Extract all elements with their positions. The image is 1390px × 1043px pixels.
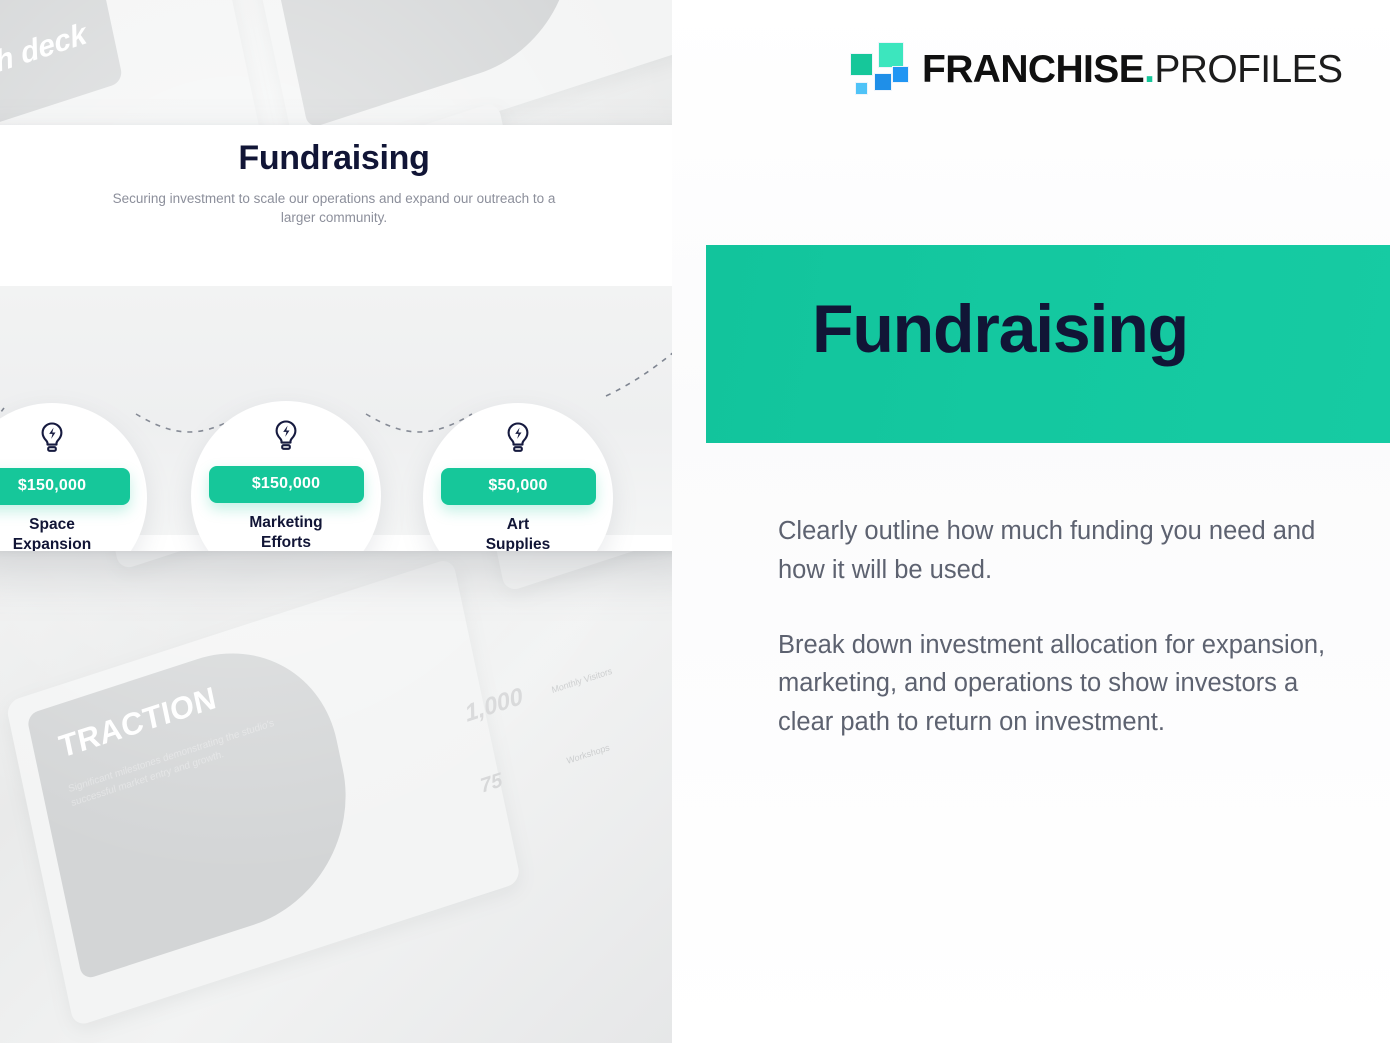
logo-square-cyan (855, 82, 868, 95)
funding-node-caption-line-1: Art (507, 516, 529, 533)
brand-wordmark: FRANCHISE.PROFILES (922, 50, 1342, 89)
funding-node-space-expansion[interactable]: $150,000 Space Expansion (0, 403, 147, 551)
funding-node-marketing-efforts[interactable]: $150,000 Marketing Efforts (191, 401, 381, 551)
brand-word-dot: . (1144, 48, 1154, 91)
slide-preview-title: Fundraising (0, 139, 710, 178)
slide-preview-card[interactable]: Fundraising Securing investment to scale… (0, 125, 710, 551)
funding-node-caption-line-1: Space (29, 516, 75, 533)
section-title: Fundraising (812, 295, 1188, 363)
mini-metric-value-1: 1,000 (463, 683, 526, 729)
mini-metric-label-1: Monthly Visitors (551, 648, 667, 696)
slide-showcase-page: MARKET spaces in urban and are substanti… (0, 0, 1390, 1043)
mini-metric-label-2: Workshops (566, 716, 672, 767)
funding-node-caption-line-2: Efforts (261, 534, 311, 551)
funding-amount-badge: $150,000 (0, 468, 130, 505)
logo-square-blue (892, 66, 909, 83)
funding-node-caption-line-2: Expansion (13, 536, 91, 551)
funding-node-caption: Space Expansion (0, 515, 147, 551)
logo-square-blue-dark (874, 73, 892, 91)
info-panel: FRANCHISE.PROFILES Fundraising Clearly o… (672, 0, 1390, 1043)
brand-word-light: PROFILES (1154, 48, 1342, 91)
lightbulb-icon (37, 421, 67, 455)
lightbulb-icon (271, 419, 301, 453)
mini-problem-hero-block (254, 0, 594, 129)
mini-metric-value-2: 75 (478, 769, 504, 798)
lightbulb-icon (503, 421, 533, 455)
logo-square-teal (850, 53, 873, 76)
slide-preview-subtitle: Securing investment to scale our operati… (99, 190, 569, 227)
funding-node-caption-line-2: Supplies (486, 536, 551, 551)
mini-slide-traction: TRACTION Significant milestones demonstr… (5, 557, 521, 1027)
guidance-copy: Clearly outline how much funding you nee… (778, 512, 1358, 742)
funding-node-caption: Marketing Efforts (191, 513, 381, 551)
funding-node-caption-line-1: Marketing (249, 514, 322, 531)
funding-node-art-supplies[interactable]: $50,000 Art Supplies (423, 403, 613, 551)
funding-amount-badge: $50,000 (441, 468, 596, 505)
logo-square-mint (878, 42, 904, 68)
mini-slide-metrics: 1,000 Monthly Visitors 75 Workshops (439, 555, 672, 904)
franchise-profiles-squares-logo-icon (848, 40, 906, 98)
slide-preview-header: Fundraising Securing investment to scale… (0, 125, 710, 290)
brand-lockup: FRANCHISE.PROFILES (848, 40, 1342, 98)
funding-amount-badge: $150,000 (209, 466, 364, 503)
section-banner: Fundraising (706, 245, 1390, 443)
brand-word-bold: FRANCHISE (922, 48, 1144, 91)
guidance-paragraph-2: Break down investment allocation for exp… (778, 626, 1358, 742)
guidance-paragraph-1: Clearly outline how much funding you nee… (778, 512, 1358, 590)
funding-node-caption: Art Supplies (423, 515, 613, 551)
